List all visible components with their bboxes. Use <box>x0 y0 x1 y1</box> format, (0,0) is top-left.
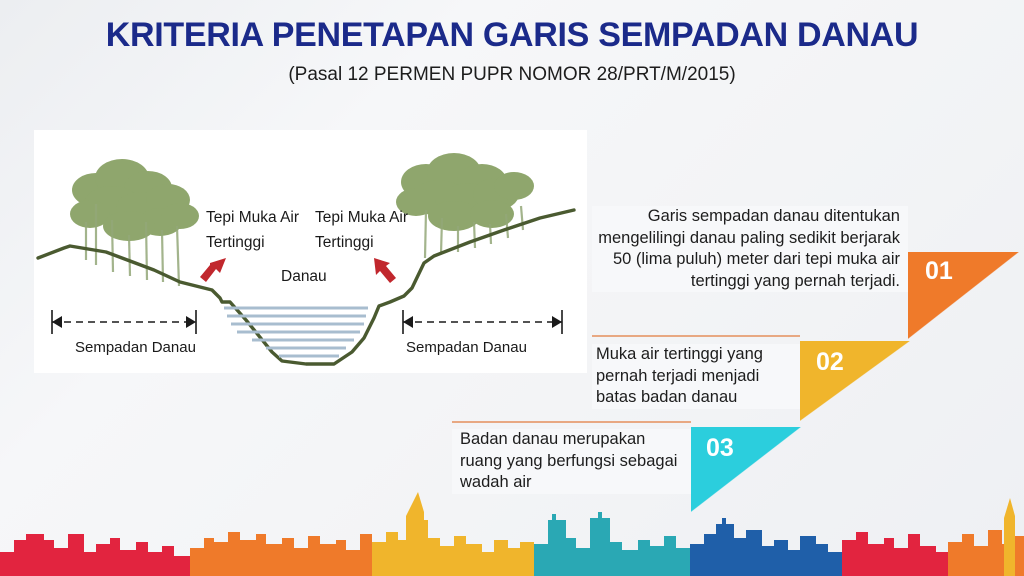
label-right-water-edge-line1: Tepi Muka Air <box>315 209 408 226</box>
skyline-group-red-2 <box>842 532 948 576</box>
criteria-separator-1 <box>592 335 800 337</box>
skyline-group-yellow-1 <box>372 492 534 576</box>
label-left-water-edge-line1: Tepi Muka Air <box>206 209 299 226</box>
skyline-group-orange-1 <box>190 532 372 576</box>
city-skyline-footer <box>0 490 1024 576</box>
label-left-water-edge-line2: Tertinggi <box>206 234 265 251</box>
skyline-group-blue-1 <box>690 518 842 576</box>
page-subtitle: (Pasal 12 PERMEN PUPR NOMOR 28/PRT/M/201… <box>0 64 1024 86</box>
criteria-number-01: 01 <box>925 257 953 286</box>
criteria-number-02: 02 <box>816 348 844 377</box>
criteria-number-03: 03 <box>706 434 734 463</box>
label-setback-right: Sempadan Danau <box>406 339 527 356</box>
diagram-illustration: Tepi Muka Air Tertinggi Tepi Muka Air Te… <box>34 130 587 373</box>
lake-cross-section-diagram: Tepi Muka Air Tertinggi Tepi Muka Air Te… <box>34 130 587 373</box>
criteria-text-02: Muka air tertinggi yang pernah terjadi m… <box>592 344 800 409</box>
label-lake: Danau <box>281 268 327 285</box>
skyline-group-yellow-2 <box>1004 498 1015 576</box>
criteria-text-03: Badan danau merupakan ruang yang berfung… <box>452 429 691 494</box>
label-right-water-edge-line2: Tertinggi <box>315 234 374 251</box>
skyline-group-red-1 <box>0 534 190 576</box>
page-title: KRITERIA PENETAPAN GARIS SEMPADAN DANAU <box>0 16 1024 55</box>
criteria-text-01: Garis sempadan danau ditentukan mengelil… <box>592 206 908 292</box>
criteria-separator-2 <box>452 421 691 423</box>
slide-canvas: KRITERIA PENETAPAN GARIS SEMPADAN DANAU … <box>0 0 1024 576</box>
label-setback-left: Sempadan Danau <box>75 339 196 356</box>
skyline-illustration <box>0 490 1024 576</box>
skyline-group-teal-1 <box>534 512 690 576</box>
